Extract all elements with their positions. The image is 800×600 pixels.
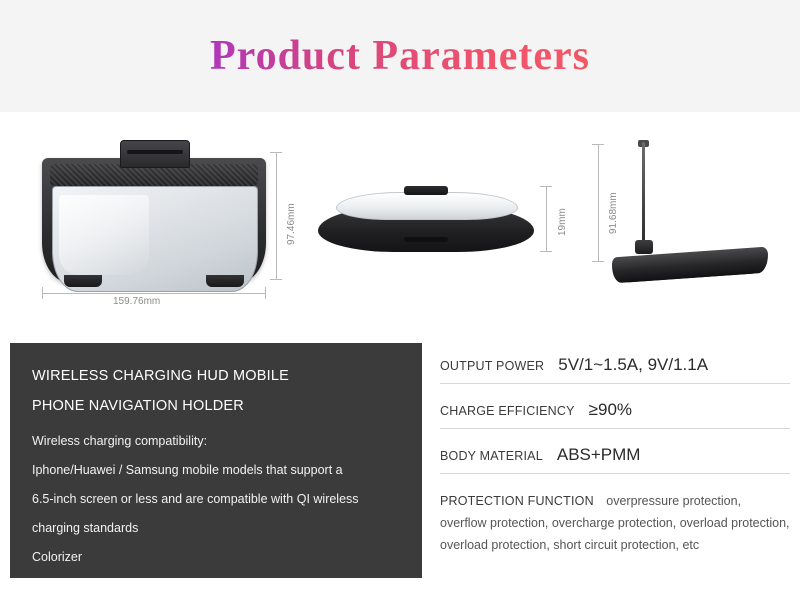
dim-tick-thickness-bottom [540,251,552,252]
description-line-colorizer: Colorizer [32,543,402,572]
spec-row-output-power: OUTPUT POWER 5V/1~1.5A, 9V/1.1A [440,339,790,384]
header-band: Product Parameters [0,0,800,112]
dim-label-thickness: 19mm [557,208,568,236]
dim-tick-height-top [270,152,282,153]
device-hud-holder-top-view [42,140,266,285]
charger-hinge-nub [404,186,448,195]
dim-line-height [276,152,277,280]
spec-row-body-material: BODY MATERIAL ABS+PMM [440,429,790,474]
spec-value-charge-efficiency: ≥90% [589,400,632,420]
product-diagram-band: 159.76mm 97.46mm 19mm [0,112,800,339]
device-charger-front-view [318,184,534,252]
dim-tick-side-height-bottom [592,261,604,262]
description-title-line1: WIRELESS CHARGING HUD MOBILE [32,361,402,391]
holder-foot-right [206,275,244,287]
dim-tick-width-left [42,287,43,299]
product-parameters-page: Product Parameters 159.76mm 97.46mm [0,0,800,600]
dim-tick-height-bottom [270,279,282,280]
holder-body [42,158,266,283]
dim-line-width [42,293,266,294]
description-line-compatibility: Wireless charging compatibility: [32,427,402,456]
spec-list: OUTPUT POWER 5V/1~1.5A, 9V/1.1A CHARGE E… [440,339,790,564]
dim-label-width: 159.76mm [113,296,160,307]
holder-clip [120,140,190,168]
spec-key-body-material: BODY MATERIAL [440,449,543,463]
spec-value-body-material: ABS+PMM [557,445,641,465]
dim-label-height: 97.46mm [286,203,297,245]
side-hinge-joint [635,240,653,254]
side-arm [642,142,645,246]
dim-tick-thickness-top [540,186,552,187]
dim-line-thickness [546,186,547,252]
spec-row-charge-efficiency: CHARGE EFFICIENCY ≥90% [440,384,790,429]
description-line-screen-size: 6.5-inch screen or less and are compatib… [32,485,402,514]
lower-section: WIRELESS CHARGING HUD MOBILE PHONE NAVIG… [0,339,800,600]
page-title: Product Parameters [0,32,800,80]
description-title-line2: PHONE NAVIGATION HOLDER [32,391,402,421]
dim-line-side-height [598,144,599,262]
spec-value-output-power: 5V/1~1.5A, 9V/1.1A [558,355,708,375]
dim-label-side-height: 91.68mm [608,192,619,234]
charger-plate [336,192,518,220]
dim-tick-side-height-top [592,144,604,145]
description-line-standards: charging standards [32,514,402,543]
spec-key-protection-function: PROTECTION FUNCTION [440,494,594,508]
description-line-models: Iphone/Huawei / Samsung mobile models th… [32,456,402,485]
spec-row-protection-function: PROTECTION FUNCTION overpressure protect… [440,474,790,564]
device-holder-side-view [612,142,768,292]
spec-key-charge-efficiency: CHARGE EFFICIENCY [440,404,575,418]
spec-key-output-power: OUTPUT POWER [440,359,544,373]
description-panel: WIRELESS CHARGING HUD MOBILE PHONE NAVIG… [10,343,422,578]
holder-foot-left [64,275,102,287]
dim-tick-width-right [265,287,266,299]
charger-slot [404,237,448,242]
